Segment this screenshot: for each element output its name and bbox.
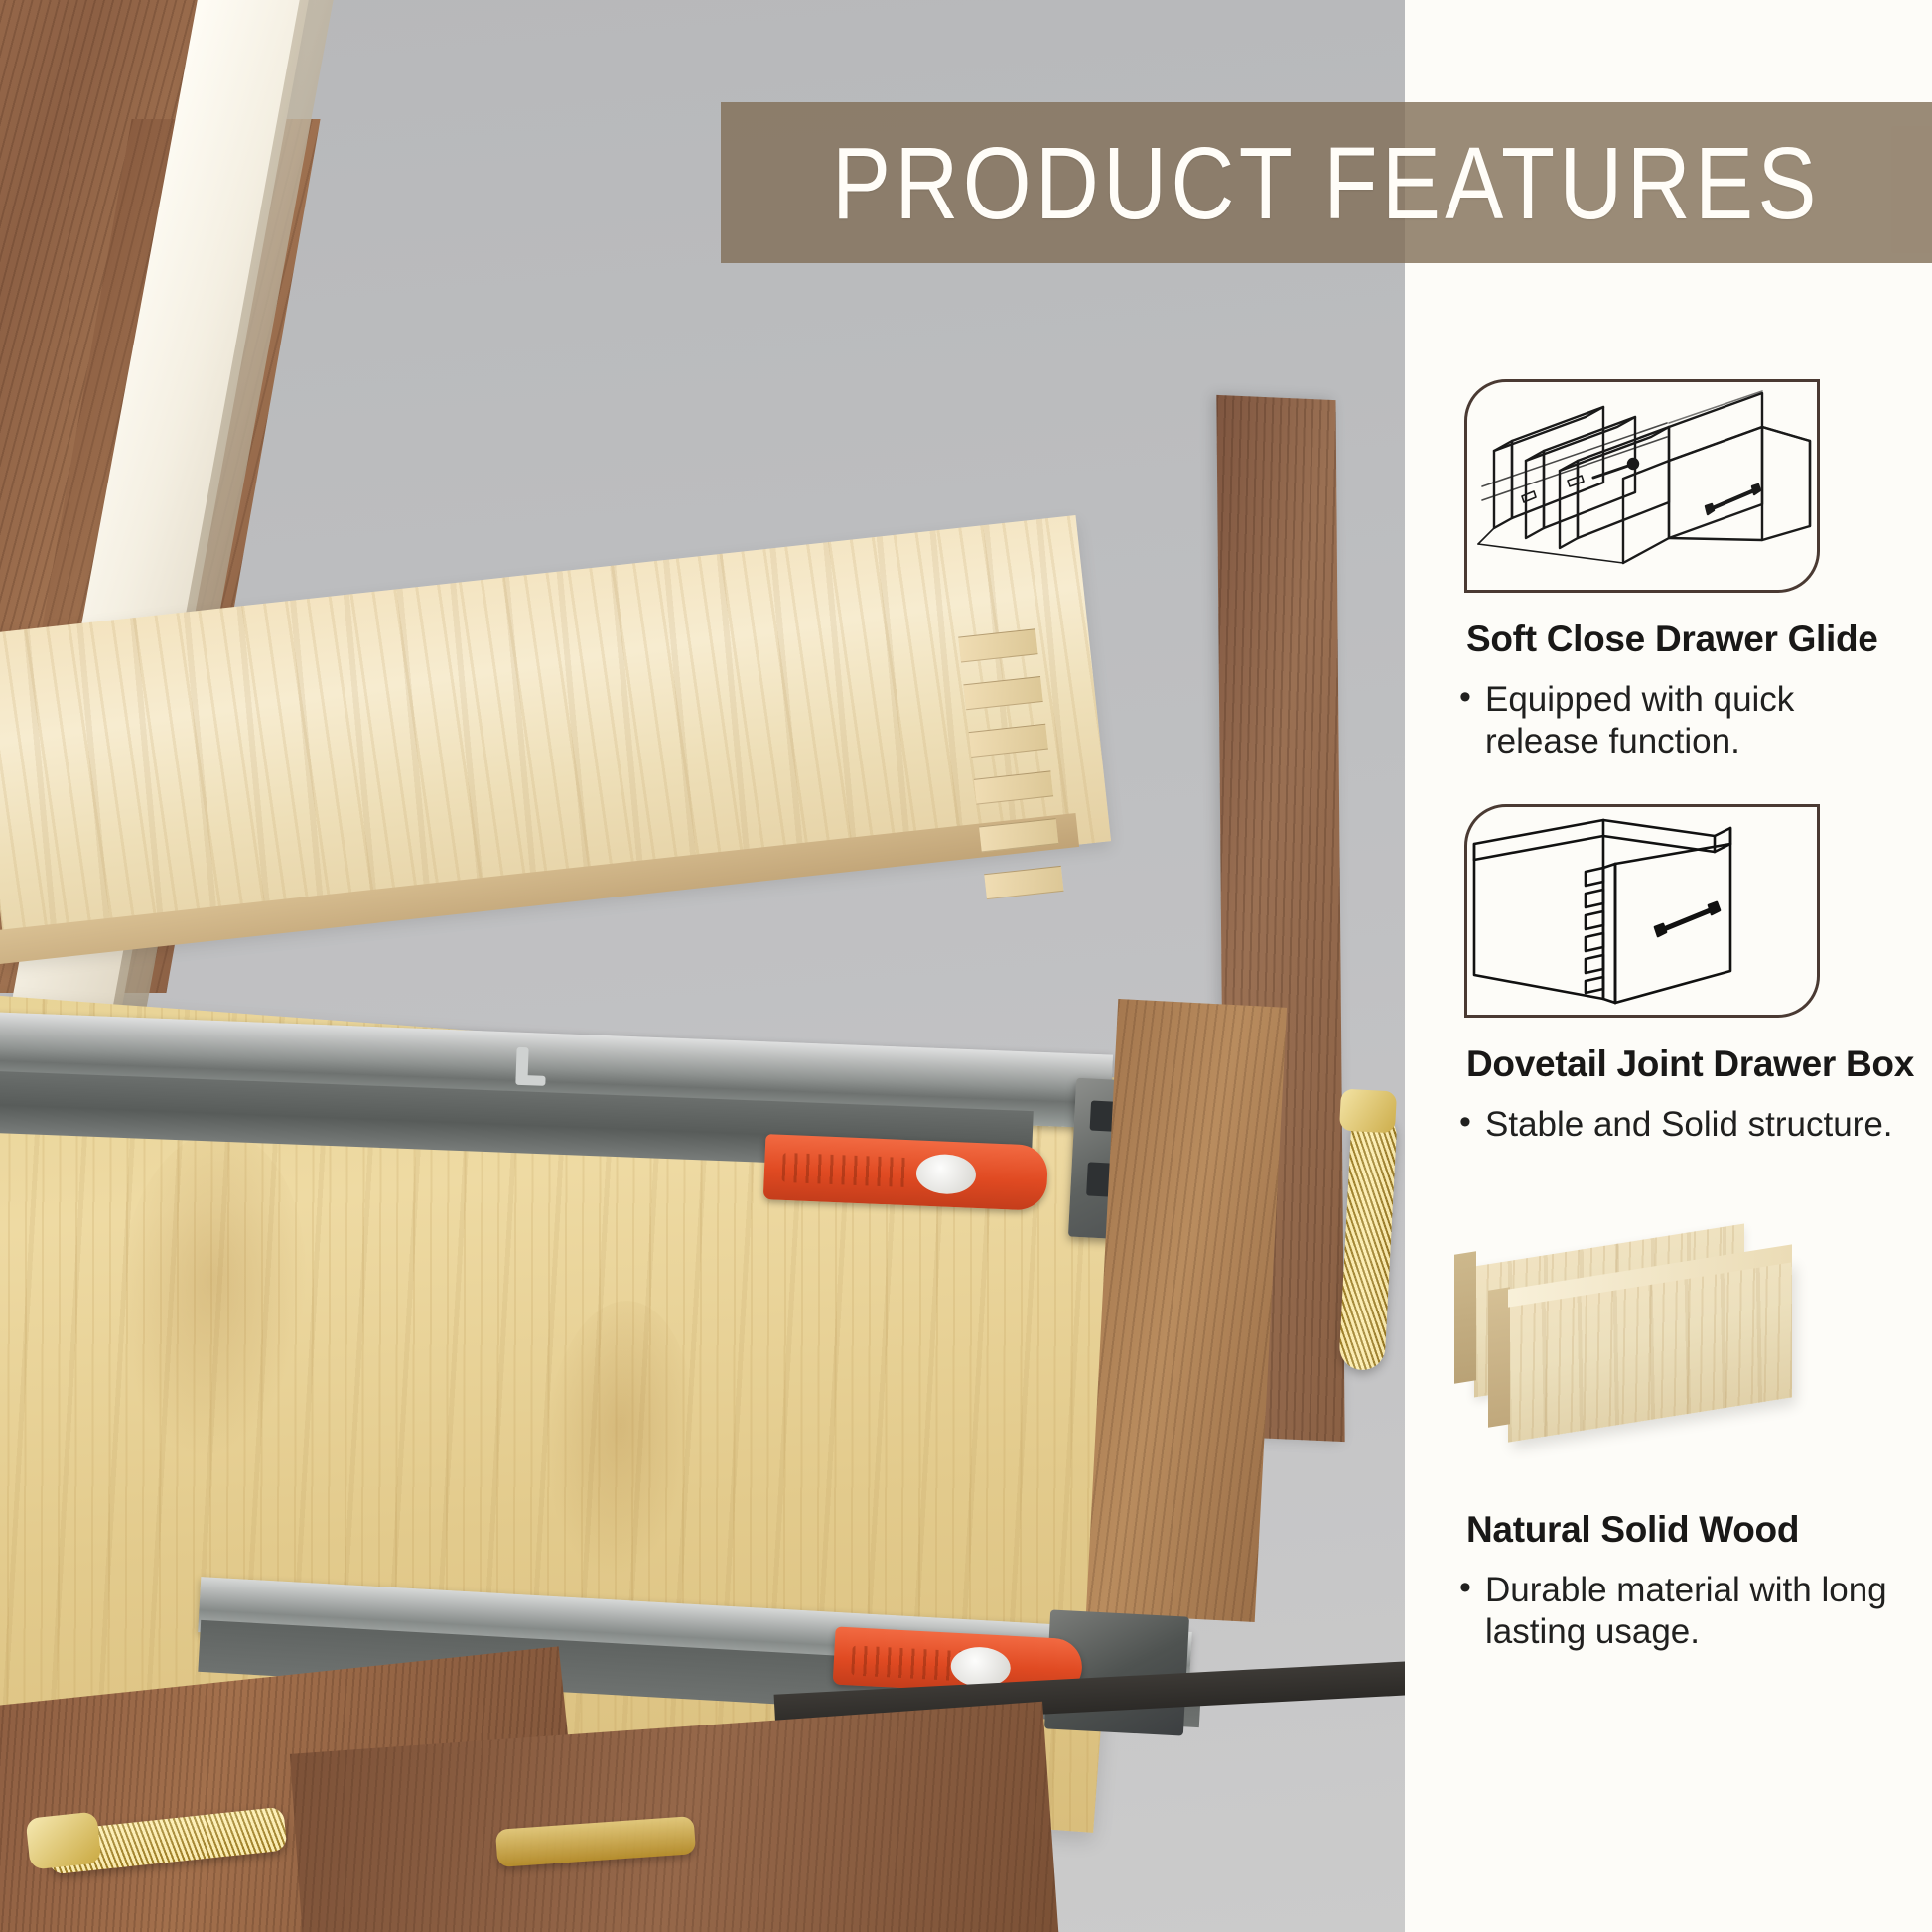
feature-soft-close-drawer-glide: Soft Close Drawer Glide Equipped with qu…	[1405, 379, 1932, 763]
feature-bullet: Stable and Solid structure.	[1459, 1104, 1896, 1147]
walnut-drawer-front-right	[1086, 999, 1287, 1622]
quick-release-lever-upper	[763, 1134, 1049, 1211]
feature-bullet: Durable material with long lasting usage…	[1459, 1570, 1896, 1654]
drawer-glide-line-art-icon	[1464, 379, 1820, 593]
brass-knurled-handle-right	[1338, 1111, 1398, 1371]
features-panel: Soft Close Drawer Glide Equipped with qu…	[1405, 0, 1932, 1932]
feature-bullet: Equipped with quick release function.	[1459, 679, 1896, 763]
slide-rail-hook	[515, 1047, 528, 1083]
feature-title: Natural Solid Wood	[1466, 1509, 1932, 1552]
header-banner: PRODUCT FEATURES	[721, 102, 1932, 263]
feature-dovetail-joint-drawer-box: Dovetail Joint Drawer Box Stable and Sol…	[1405, 804, 1932, 1146]
page-title: PRODUCT FEATURES	[832, 132, 1821, 234]
solid-wood-planks-icon	[1452, 1223, 1850, 1451]
feature-natural-solid-wood: Natural Solid Wood Durable material with…	[1405, 1223, 1932, 1654]
infographic-canvas: Soft Close Drawer Glide Equipped with qu…	[0, 0, 1932, 1932]
product-photo	[0, 0, 1405, 1932]
brass-handle-cap-right	[1339, 1089, 1397, 1134]
feature-title: Dovetail Joint Drawer Box	[1466, 1043, 1932, 1086]
feature-title: Soft Close Drawer Glide	[1466, 619, 1932, 661]
wood-plank-front-edge	[1488, 1287, 1510, 1427]
dovetail-drawer-box-line-art-icon	[1464, 804, 1820, 1018]
wood-plank-back-edge	[1454, 1251, 1476, 1383]
brass-handle-cap-bottom-left	[25, 1811, 101, 1869]
